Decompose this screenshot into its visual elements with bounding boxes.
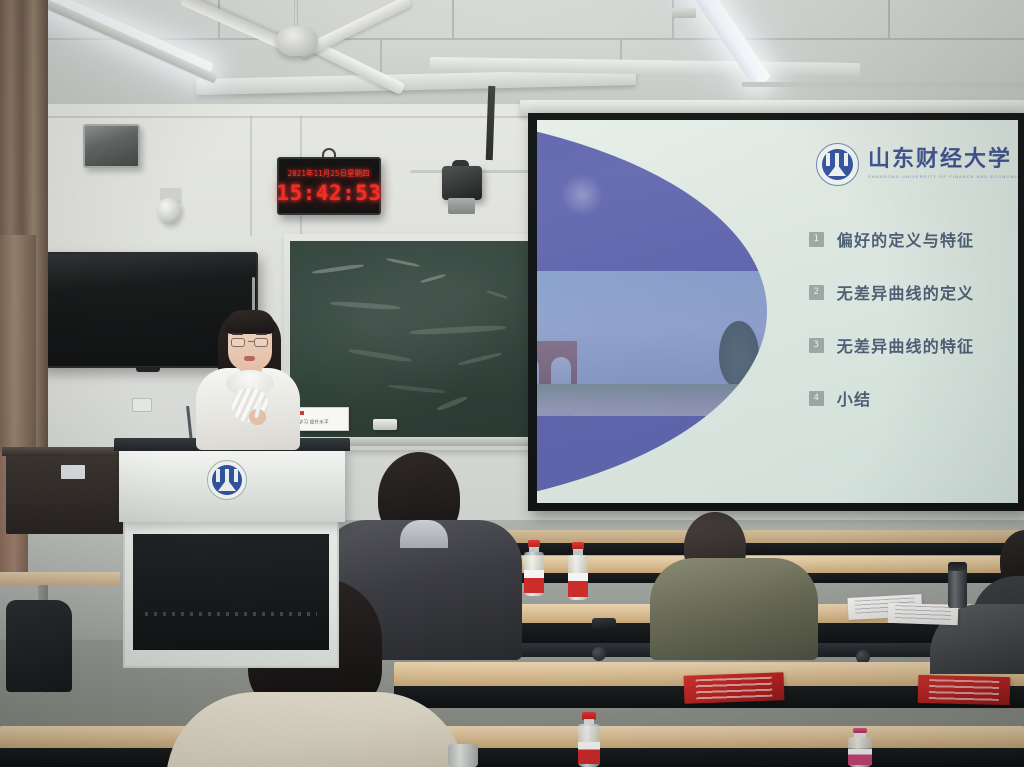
wall-speaker (83, 124, 140, 168)
agenda-number: 2 (809, 285, 824, 300)
dark-cabinet-top (2, 447, 128, 456)
cup[interactable] (448, 744, 478, 767)
wall-camera-icon (442, 166, 482, 200)
projection-screen[interactable]: 山东财经大学 SHANDONG UNIVERSITY OF FINANCE AN… (528, 113, 1024, 511)
presentation-slide: 山东财经大学 SHANDONG UNIVERSITY OF FINANCE AN… (537, 120, 1018, 503)
shoulders (166, 692, 466, 767)
presenter-mouth (244, 356, 255, 361)
agenda-label: 偏好的定义与特征 (837, 227, 975, 251)
slide-agenda-list: 1 偏好的定义与特征 2 无差异曲线的定义 3 无差异曲线的特征 4 小结 (809, 227, 1009, 439)
presenter-fringe (225, 310, 275, 334)
glasses-bridge (248, 341, 254, 342)
fan-motor-housing (276, 26, 318, 56)
university-name-en: SHANDONG UNIVERSITY OF FINANCE AND ECONO… (868, 174, 1018, 179)
fan-downrod (294, 0, 298, 28)
classroom-photo: 2021年11月25日星期四 15:42:53 交流学习 提升水平 (0, 0, 1024, 767)
agenda-number: 1 (809, 232, 824, 247)
water-bottle[interactable] (568, 542, 588, 600)
shoulders (650, 558, 818, 660)
agenda-number: 4 (809, 391, 824, 406)
agenda-number: 3 (809, 338, 824, 353)
smartphone[interactable] (592, 618, 616, 629)
clock-time-display: 15:42:53 (276, 181, 381, 205)
agenda-label: 小结 (837, 386, 871, 410)
wall-socket (132, 398, 152, 412)
podium-crest-icon (207, 460, 247, 500)
red-booklet[interactable] (918, 675, 1011, 705)
water-bottle[interactable] (524, 540, 544, 596)
wall-camera-bracket (448, 198, 475, 214)
slide-university-logo: 山东财经大学 SHANDONG UNIVERSITY OF FINANCE AN… (816, 143, 1018, 186)
light-housing-right (672, 8, 696, 18)
chalkboard-eraser[interactable] (373, 419, 397, 430)
agenda-item: 2 无差异曲线的定义 (809, 280, 1009, 304)
thermos-lid (948, 562, 967, 571)
classroom-chair[interactable] (6, 600, 72, 692)
red-booklet[interactable] (684, 672, 785, 703)
agenda-label: 无差异曲线的特征 (837, 333, 975, 357)
water-bottle[interactable] (578, 712, 600, 767)
slide-curved-panel (537, 120, 767, 503)
clock-date-display: 2021年11月25日星期四 (288, 168, 370, 179)
agenda-item: 4 小结 (809, 386, 1009, 410)
thermos-flask[interactable] (948, 568, 967, 608)
presenter-glasses-left (231, 338, 245, 347)
agenda-item: 1 偏好的定义与特征 (809, 227, 1009, 251)
presenter-glasses-right (254, 338, 268, 347)
agenda-item: 3 无差异曲线的特征 (809, 333, 1009, 357)
agenda-label: 无差异曲线的定义 (837, 280, 975, 304)
led-wall-clock: 2021年11月25日星期四 15:42:53 (277, 157, 381, 215)
podium-panel-vents (145, 612, 317, 616)
tv-mount-foot (136, 367, 160, 372)
university-name-cn: 山东财经大学 (868, 149, 1018, 171)
water-bottle[interactable] (848, 728, 872, 767)
cabinet-label (61, 465, 85, 479)
podium-equipment-panel[interactable] (133, 534, 329, 650)
university-crest-icon (816, 143, 859, 186)
side-desk (0, 572, 120, 585)
shirt-collar (400, 520, 448, 548)
